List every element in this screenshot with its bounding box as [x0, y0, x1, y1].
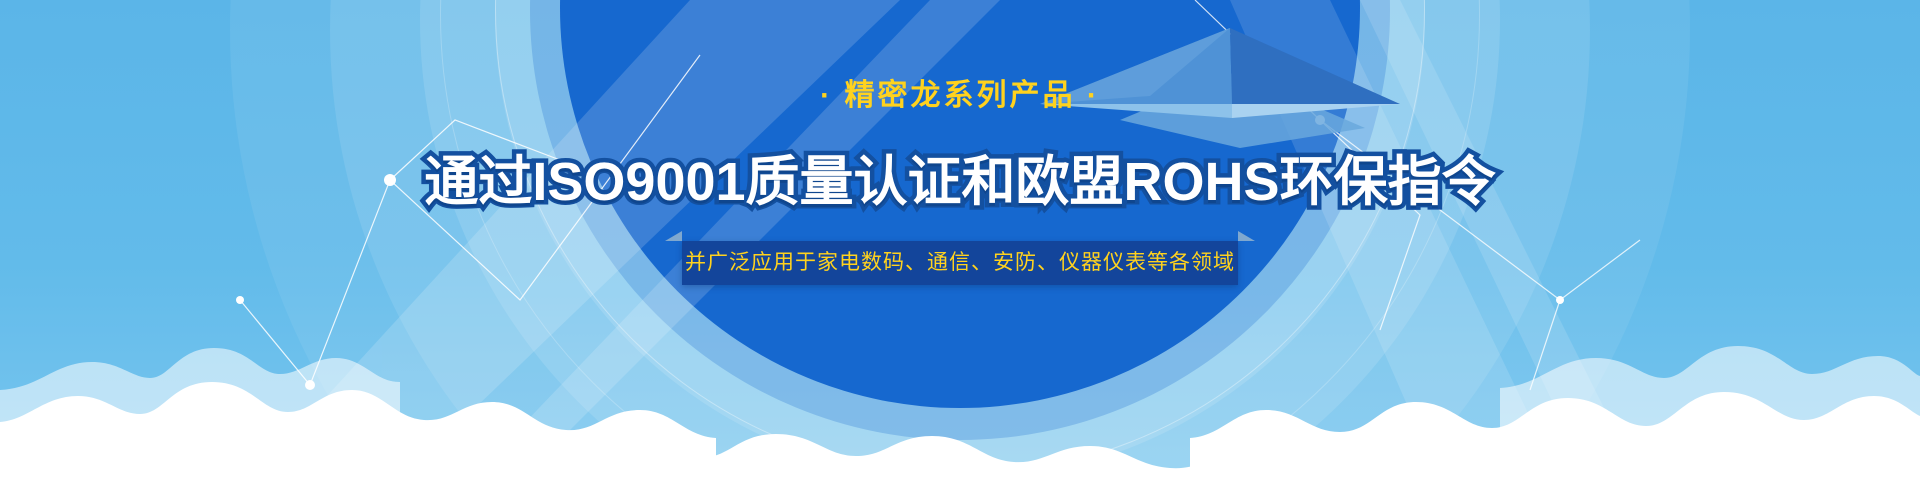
ribbon-fold-right [1238, 231, 1255, 241]
page-title: 通过ISO9001质量认证和欧盟ROHS环保指令 [424, 146, 1495, 218]
ribbon-fold-left [665, 231, 682, 241]
subtitle-text: 并广泛应用于家电数码、通信、安防、仪器仪表等各领域 [682, 241, 1238, 285]
subtitle-ribbon: 并广泛应用于家电数码、通信、安防、仪器仪表等各领域 [682, 241, 1238, 285]
banner-content: · 精密龙系列产品 · 通过ISO9001质量认证和欧盟ROHS环保指令 并广泛… [0, 0, 1920, 480]
promo-banner: · 精密龙系列产品 · 通过ISO9001质量认证和欧盟ROHS环保指令 并广泛… [0, 0, 1920, 480]
eyebrow-text: · 精密龙系列产品 · [0, 76, 1920, 116]
headline-wrapper: 通过ISO9001质量认证和欧盟ROHS环保指令 [0, 146, 1920, 218]
